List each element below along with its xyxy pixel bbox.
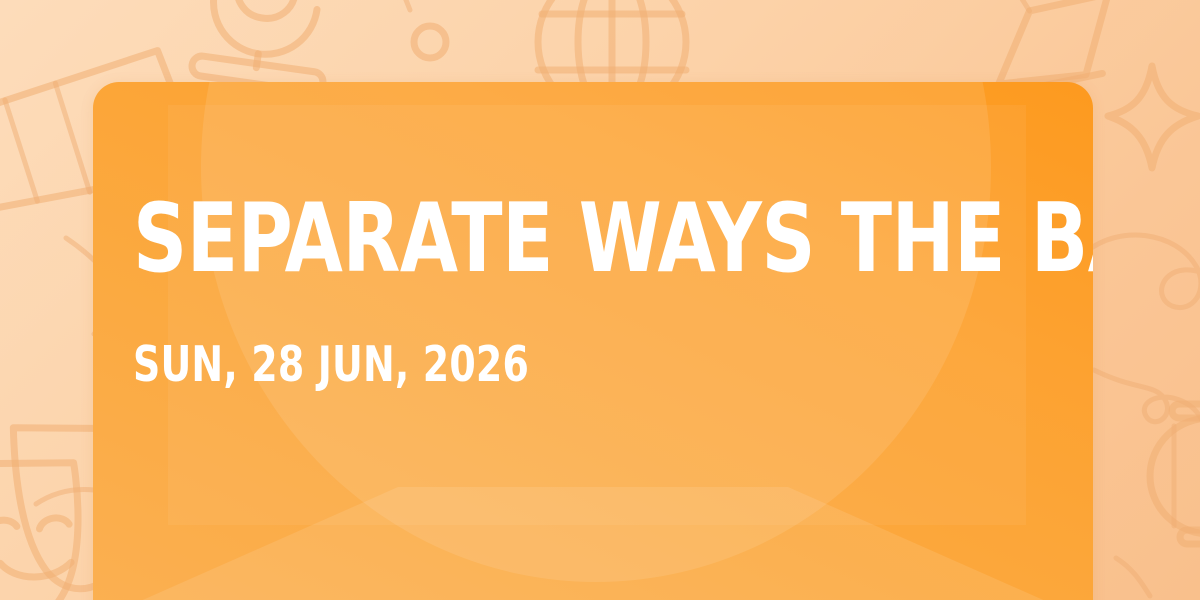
microphone-stand-icon — [182, 0, 372, 94]
event-poster: SEPARATE WAYS THE BAND SUN, 28 JUN, 2026 — [0, 0, 1200, 600]
confetti-dot-icon — [400, 12, 460, 72]
sparkle-star-icon — [1098, 56, 1200, 176]
event-date: SUN, 28 JUN, 2026 — [133, 340, 529, 389]
confetti-tick-icon — [388, 0, 428, 24]
confetti-strip-icon — [1106, 548, 1176, 600]
page-title: SEPARATE WAYS THE BAND — [133, 194, 1093, 285]
lantern-icon — [1130, 380, 1200, 560]
event-card[interactable]: SEPARATE WAYS THE BAND SUN, 28 JUN, 2026 — [93, 82, 1093, 600]
streamer-swirl-icon — [1080, 230, 1200, 530]
